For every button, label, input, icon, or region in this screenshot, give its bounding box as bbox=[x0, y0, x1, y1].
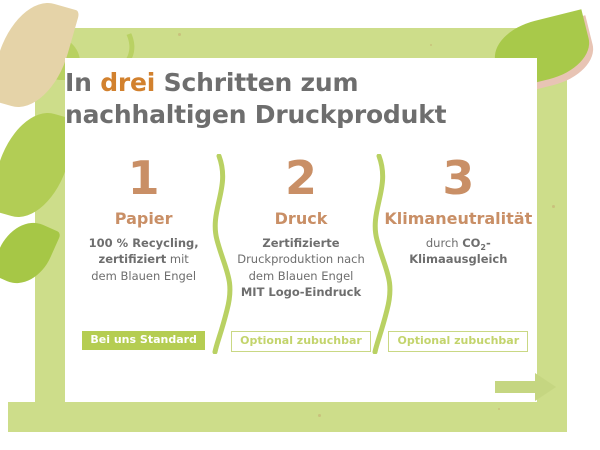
step-desc-bold: Klimaausgleich bbox=[409, 252, 507, 266]
step-desc-bold: MIT Logo-Eindruck bbox=[241, 285, 361, 299]
step-desc-subscript: 2 bbox=[480, 243, 486, 252]
headline-part-1: In bbox=[65, 68, 100, 97]
content-card: In drei Schritten zum nachhaltigen Druck… bbox=[65, 58, 537, 402]
headline-part-2: Schritten zum bbox=[155, 68, 358, 97]
paper-fleck bbox=[498, 408, 500, 410]
step-title: Papier bbox=[65, 209, 222, 228]
paper-fleck bbox=[430, 44, 432, 46]
step-desc-bold: CO bbox=[462, 236, 480, 250]
step-desc-bold: Zertifizierte bbox=[262, 236, 339, 250]
step-description: durch CO2- Klimaausgleich bbox=[380, 235, 537, 268]
step-desc-regular: Druckproduktion nach bbox=[237, 252, 365, 266]
step-desc-regular: durch bbox=[426, 236, 462, 250]
status-badge[interactable]: Optional zubuchbar bbox=[231, 331, 371, 352]
frame-band-bottom bbox=[8, 402, 567, 432]
status-badge[interactable]: Optional zubuchbar bbox=[388, 331, 528, 352]
headline-accent-word: drei bbox=[100, 68, 155, 97]
step-description: Zertifizierte Druckproduktion nach dem B… bbox=[222, 235, 379, 300]
badge-wrapper: Optional zubuchbar bbox=[222, 331, 379, 352]
infographic-canvas: In drei Schritten zum nachhaltigen Druck… bbox=[0, 0, 600, 450]
badge-wrapper: Optional zubuchbar bbox=[380, 331, 537, 352]
step-title: Druck bbox=[222, 209, 379, 228]
badge-wrapper: Bei uns Standard bbox=[65, 331, 222, 350]
step-desc-bold: 100 % Recycling, bbox=[89, 236, 199, 250]
step-number: 2 bbox=[222, 155, 379, 201]
steps-container: 1 Papier 100 % Recycling, zertifiziert m… bbox=[65, 153, 537, 393]
step-description: 100 % Recycling, zertifiziert mit dem Bl… bbox=[65, 235, 222, 284]
step-title: Klimaneutralität bbox=[380, 209, 537, 228]
arrow-right-icon[interactable] bbox=[495, 372, 557, 402]
step-desc-regular: dem Blauen Engel bbox=[91, 269, 196, 283]
step-column-3: 3 Klimaneutralität durch CO2- Klimaausgl… bbox=[380, 153, 537, 393]
step-desc-regular: dem Blauen Engel bbox=[249, 269, 354, 283]
step-desc-bold: zertifiziert bbox=[99, 252, 167, 266]
step-desc-regular: mit bbox=[166, 252, 189, 266]
step-number: 1 bbox=[65, 155, 222, 201]
step-column-2: 2 Druck Zertifizierte Druckproduktion na… bbox=[222, 153, 379, 393]
page-title: In drei Schritten zum nachhaltigen Druck… bbox=[65, 67, 525, 131]
status-badge[interactable]: Bei uns Standard bbox=[82, 331, 205, 350]
step-number: 3 bbox=[380, 155, 537, 201]
headline-line-2: nachhaltigen Druckprodukt bbox=[65, 100, 446, 129]
paper-fleck bbox=[178, 33, 181, 36]
step-desc-bold: - bbox=[486, 236, 491, 250]
paper-fleck bbox=[552, 205, 555, 208]
step-column-1: 1 Papier 100 % Recycling, zertifiziert m… bbox=[65, 153, 222, 393]
paper-fleck bbox=[318, 414, 321, 417]
